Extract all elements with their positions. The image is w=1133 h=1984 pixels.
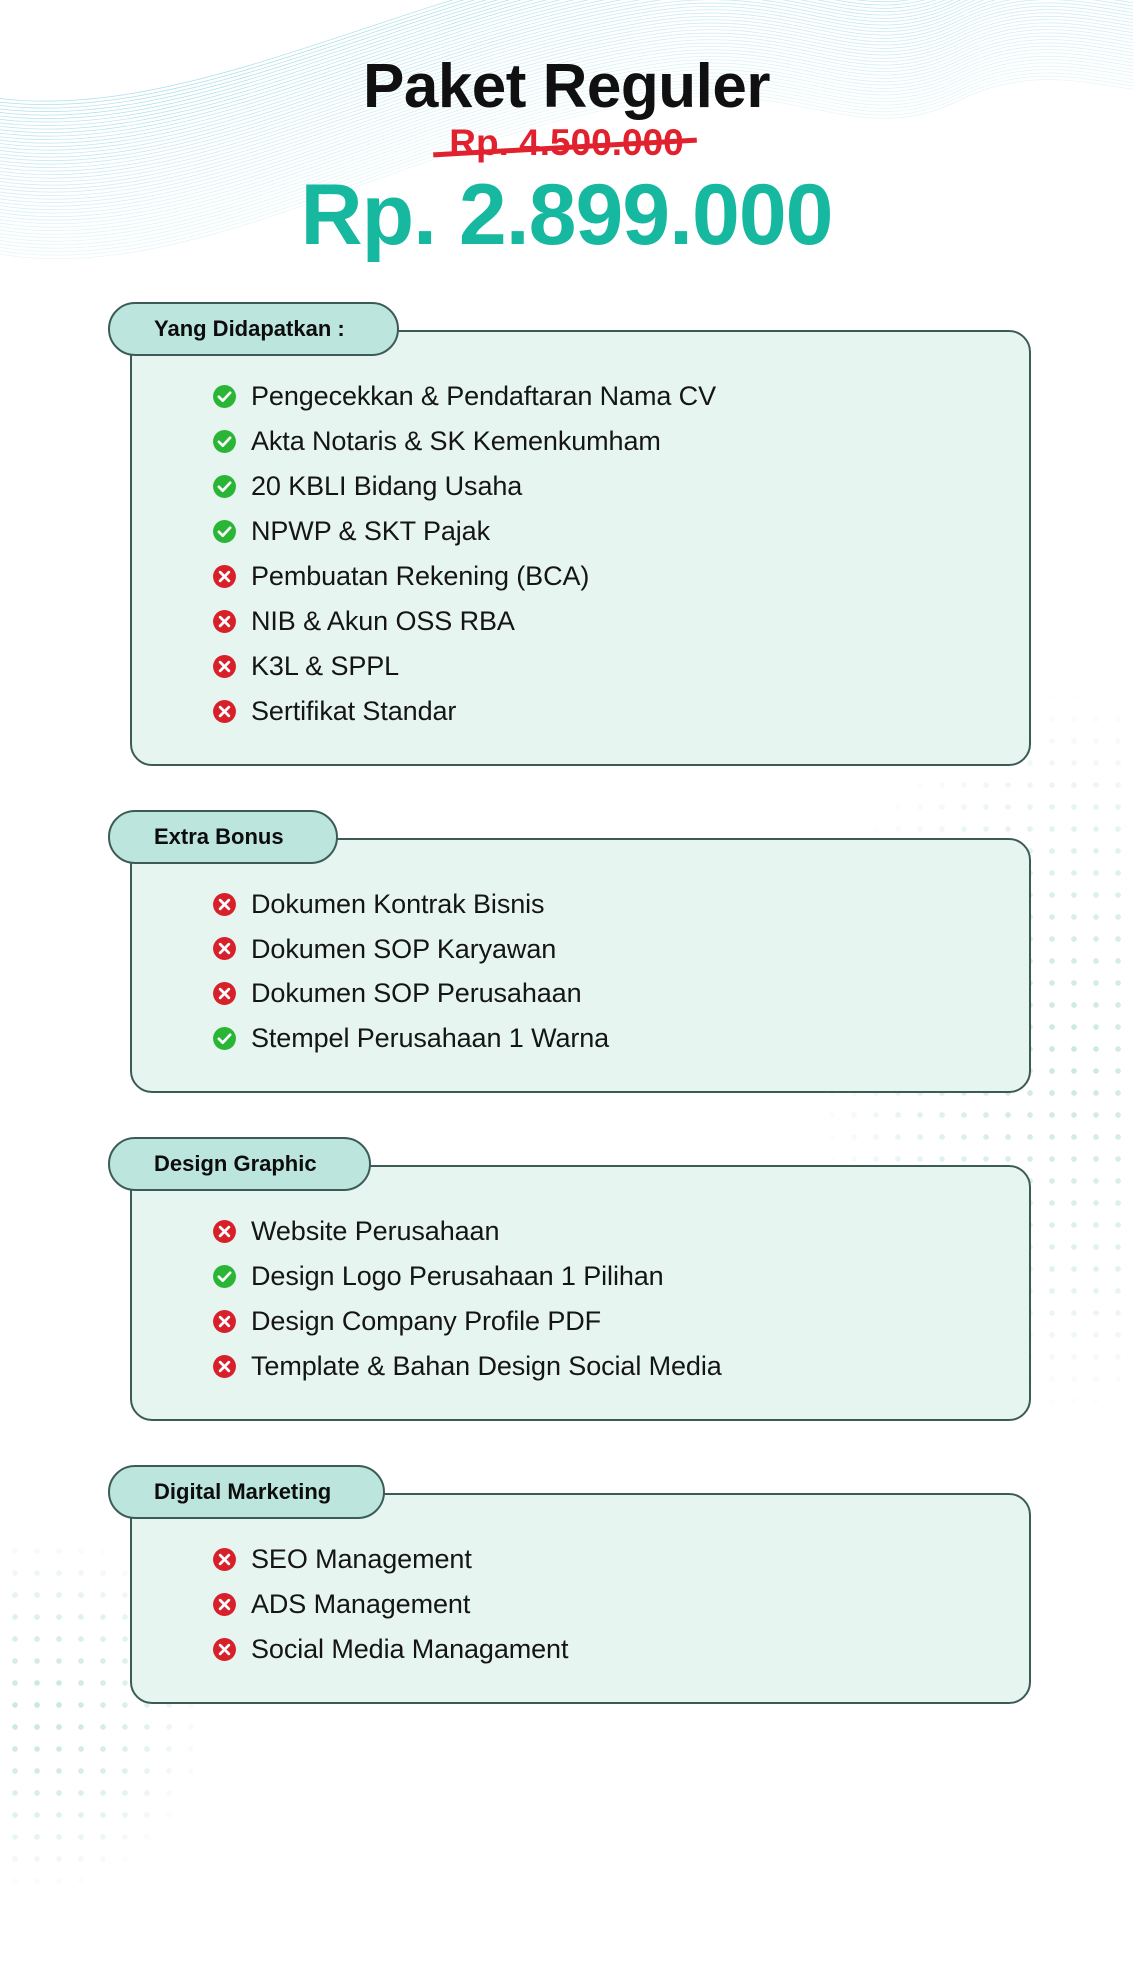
feature-label: NPWP & SKT Pajak [251,515,490,548]
feature-label: Website Perusahaan [251,1215,499,1248]
cross-circle-icon [212,654,237,679]
cross-circle-icon [212,1637,237,1662]
feature-label: Pembuatan Rekening (BCA) [251,560,589,593]
list-item: NIB & Akun OSS RBA [166,599,995,644]
check-circle-icon [212,429,237,454]
cross-circle-icon [212,1592,237,1617]
list-item: Akta Notaris & SK Kemenkumham [166,419,995,464]
feature-label: Sertifikat Standar [251,695,456,728]
cross-circle-icon [212,1219,237,1244]
feature-section: Yang Didapatkan :Pengecekkan & Pendaftar… [0,302,1133,766]
old-price-container: Rp. 4.500.000 [449,123,683,164]
cross-circle-icon [212,981,237,1006]
cross-circle-icon [212,564,237,589]
list-item: Pengecekkan & Pendaftaran Nama CV [166,374,995,419]
list-item: NPWP & SKT Pajak [166,509,995,554]
feature-label: K3L & SPPL [251,650,399,683]
feature-section: Design GraphicWebsite PerusahaanDesign L… [0,1137,1133,1421]
feature-label: Template & Bahan Design Social Media [251,1350,722,1383]
list-item: Website Perusahaan [166,1209,995,1254]
feature-sections: Yang Didapatkan :Pengecekkan & Pendaftar… [0,302,1133,1704]
feature-list: Dokumen Kontrak BisnisDokumen SOP Karyaw… [166,882,995,1062]
list-item: Stempel Perusahaan 1 Warna [166,1016,995,1061]
feature-label: Social Media Managament [251,1633,568,1666]
list-item: Design Logo Perusahaan 1 Pilihan [166,1254,995,1299]
cross-circle-icon [212,1354,237,1379]
list-item: Design Company Profile PDF [166,1299,995,1344]
feature-label: Pengecekkan & Pendaftaran Nama CV [251,380,716,413]
check-circle-icon [212,519,237,544]
list-item: Dokumen SOP Karyawan [166,927,995,972]
list-item: K3L & SPPL [166,644,995,689]
feature-label: SEO Management [251,1543,472,1576]
section-body: Website PerusahaanDesign Logo Perusahaan… [130,1165,1031,1421]
feature-label: Dokumen Kontrak Bisnis [251,888,544,921]
check-circle-icon [212,474,237,499]
feature-list: Website PerusahaanDesign Logo Perusahaan… [166,1209,995,1389]
section-title-tab: Yang Didapatkan : [108,302,399,356]
check-circle-icon [212,1026,237,1051]
section-body: Dokumen Kontrak BisnisDokumen SOP Karyaw… [130,838,1031,1094]
cross-circle-icon [212,1547,237,1572]
feature-label: NIB & Akun OSS RBA [251,605,515,638]
feature-list: Pengecekkan & Pendaftaran Nama CVAkta No… [166,374,995,734]
list-item: Dokumen SOP Perusahaan [166,971,995,1016]
cross-circle-icon [212,609,237,634]
section-body: SEO ManagementADS ManagementSocial Media… [130,1493,1031,1704]
pricing-header: Paket Reguler Rp. 4.500.000 Rp. 2.899.00… [0,0,1133,260]
cross-circle-icon [212,699,237,724]
cross-circle-icon [212,892,237,917]
list-item: Social Media Managament [166,1627,995,1672]
feature-section: Digital MarketingSEO ManagementADS Manag… [0,1465,1133,1704]
feature-section: Extra BonusDokumen Kontrak BisnisDokumen… [0,810,1133,1094]
section-body: Pengecekkan & Pendaftaran Nama CVAkta No… [130,330,1031,766]
cross-circle-icon [212,1309,237,1334]
list-item: Pembuatan Rekening (BCA) [166,554,995,599]
list-item: Sertifikat Standar [166,689,995,734]
feature-label: Stempel Perusahaan 1 Warna [251,1022,609,1055]
feature-label: Akta Notaris & SK Kemenkumham [251,425,661,458]
check-circle-icon [212,384,237,409]
feature-list: SEO ManagementADS ManagementSocial Media… [166,1537,995,1672]
feature-label: Dokumen SOP Karyawan [251,933,556,966]
feature-label: ADS Management [251,1588,470,1621]
feature-label: Design Logo Perusahaan 1 Pilihan [251,1260,664,1293]
feature-label: 20 KBLI Bidang Usaha [251,470,522,503]
list-item: 20 KBLI Bidang Usaha [166,464,995,509]
section-title-tab: Digital Marketing [108,1465,385,1519]
list-item: Dokumen Kontrak Bisnis [166,882,995,927]
list-item: SEO Management [166,1537,995,1582]
list-item: ADS Management [166,1582,995,1627]
list-item: Template & Bahan Design Social Media [166,1344,995,1389]
feature-label: Design Company Profile PDF [251,1305,601,1338]
pricing-card-page: Paket Reguler Rp. 4.500.000 Rp. 2.899.00… [0,0,1133,1984]
check-circle-icon [212,1264,237,1289]
cross-circle-icon [212,936,237,961]
section-title-tab: Extra Bonus [108,810,338,864]
new-price: Rp. 2.899.000 [0,170,1133,260]
section-title-tab: Design Graphic [108,1137,371,1191]
page-title: Paket Reguler [0,54,1133,119]
feature-label: Dokumen SOP Perusahaan [251,977,582,1010]
